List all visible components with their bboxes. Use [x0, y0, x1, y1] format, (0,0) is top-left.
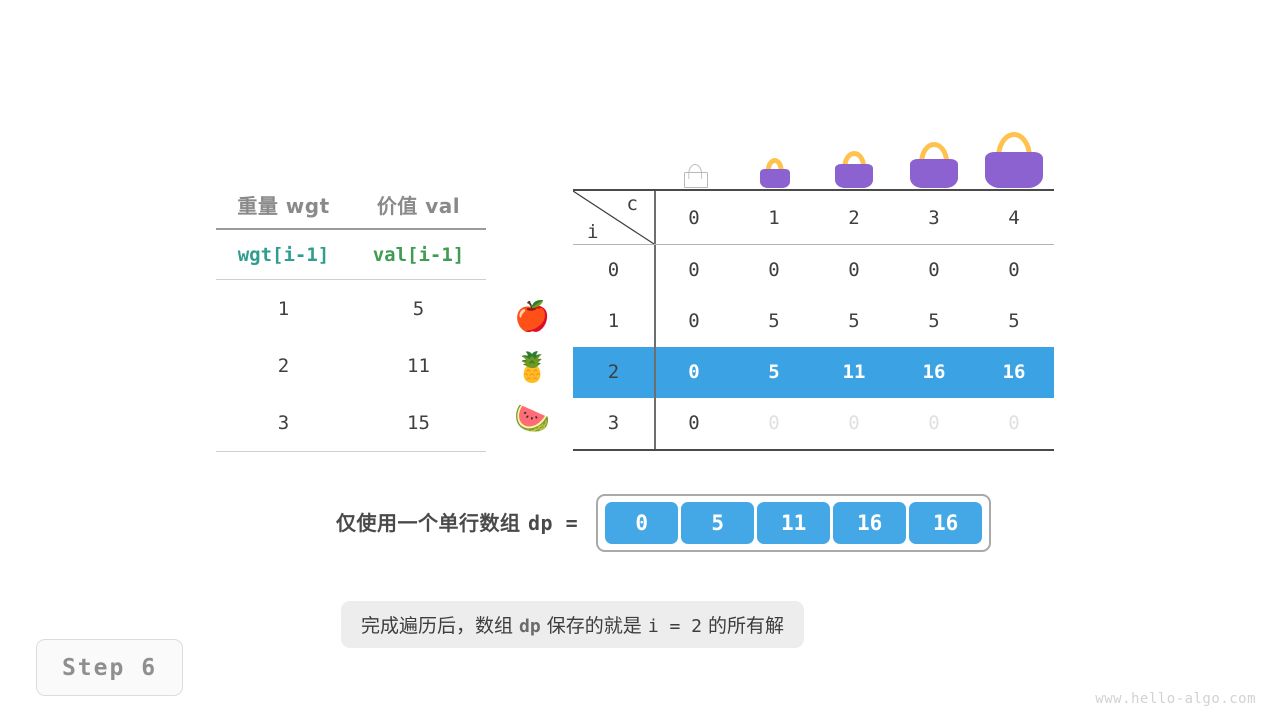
dp-col-header: 2 — [814, 207, 894, 229]
table-row: 3 15 — [216, 394, 486, 451]
items-header-weight: 重量 wgt — [216, 190, 351, 228]
table-row: 3 0 0 0 0 0 — [573, 398, 1054, 449]
diagonal-divider-icon — [573, 191, 654, 244]
caption-expression: i = 2 — [648, 616, 702, 637]
dp-cell: 5 — [974, 296, 1054, 347]
dp-table-header-row: c i 0 1 2 3 4 — [573, 191, 1054, 244]
dp-cell: 11 — [814, 347, 894, 398]
step-badge: Step 6 — [36, 639, 183, 696]
dp-col-header: 1 — [734, 207, 814, 229]
bag-icon — [735, 118, 815, 188]
table-row-highlighted: 2 0 5 11 16 16 — [573, 347, 1054, 398]
dp-cell: 0 — [894, 245, 974, 296]
dp-corner-row-label: i — [587, 221, 598, 243]
items-table-rule-bottom — [216, 451, 486, 452]
items-subheader-val: val[i-1] — [351, 230, 486, 279]
dp-array-cell: 16 — [909, 502, 982, 544]
dp-table-bottom-rule — [573, 449, 1054, 451]
watermark: www.hello-algo.com — [1095, 691, 1256, 707]
empty-bag-icon — [655, 118, 735, 188]
dp-table-vertical-divider — [654, 245, 656, 449]
dp-cell: 5 — [734, 296, 814, 347]
pineapple-icon: 🍍 — [512, 353, 552, 382]
items-table-header-row: 重量 wgt 价值 val — [216, 190, 486, 228]
dp-array-cell: 16 — [833, 502, 906, 544]
dp-cell: 5 — [734, 347, 814, 398]
items-cell-wgt: 3 — [216, 394, 351, 451]
items-cell-val: 11 — [351, 337, 486, 394]
dp-cell: 5 — [814, 296, 894, 347]
items-cell-wgt: 2 — [216, 337, 351, 394]
dp-row-index: 0 — [573, 245, 654, 296]
items-table: 重量 wgt 价值 val wgt[i-1] val[i-1] 1 5 2 11… — [216, 190, 486, 452]
watermelon-icon: 🍉 — [512, 404, 552, 433]
dp-table-body: 0 0 0 0 0 0 1 0 5 5 5 5 2 0 5 — [573, 245, 1054, 449]
caption-part3: 的所有解 — [702, 615, 784, 637]
dp-array-cell: 11 — [757, 502, 830, 544]
bag-icon — [974, 118, 1054, 188]
items-header-value: 价值 val — [351, 190, 486, 228]
dp-corner-cell: c i — [573, 191, 654, 244]
dp-array-cell: 5 — [681, 502, 754, 544]
bag-icon — [815, 118, 895, 188]
dp-array-label: 仅使用一个单行数组 dp = — [336, 496, 578, 550]
dp-array-box: 0 5 11 16 16 — [596, 494, 991, 552]
dp-cell: 0 — [974, 245, 1054, 296]
items-subheader-wgt: wgt[i-1] — [216, 230, 351, 279]
items-cell-wgt: 1 — [216, 280, 351, 337]
items-cell-val: 5 — [351, 280, 486, 337]
table-row: 1 0 5 5 5 5 — [573, 296, 1054, 347]
bag-icon — [894, 118, 974, 188]
dp-cell: 0 — [654, 296, 734, 347]
caption-part1: 完成遍历后，数组 — [361, 615, 519, 637]
dp-row-index: 1 — [573, 296, 654, 347]
dp-array-label-mono: dp = — [528, 511, 578, 535]
dp-cell: 0 — [654, 398, 734, 449]
dp-cell: 5 — [894, 296, 974, 347]
dp-cell: 16 — [894, 347, 974, 398]
dp-cell-pending: 0 — [974, 398, 1054, 449]
items-table-subheader-row: wgt[i-1] val[i-1] — [216, 230, 486, 279]
dp-cell: 0 — [734, 245, 814, 296]
items-cell-val: 15 — [351, 394, 486, 451]
table-row: 2 11 — [216, 337, 486, 394]
dp-row-index: 2 — [573, 347, 654, 398]
dp-row-index: 3 — [573, 398, 654, 449]
dp-col-header: 3 — [894, 207, 974, 229]
dp-cell-pending: 0 — [734, 398, 814, 449]
dp-table-vertical-divider — [654, 191, 656, 244]
dp-cell-pending: 0 — [814, 398, 894, 449]
dp-col-header: 4 — [974, 207, 1054, 229]
dp-cell: 16 — [974, 347, 1054, 398]
dp-array-cell: 0 — [605, 502, 678, 544]
dp-table: c i 0 1 2 3 4 0 0 0 0 0 0 1 0 — [573, 189, 1054, 451]
dp-cell: 0 — [654, 245, 734, 296]
caption-banner: 完成遍历后，数组 dp 保存的就是 i = 2 的所有解 — [341, 601, 804, 648]
caption-part2: 保存的就是 — [541, 615, 648, 637]
caption-dp: dp — [519, 616, 541, 637]
dp-cell-pending: 0 — [894, 398, 974, 449]
dp-col-header: 0 — [654, 207, 734, 229]
apple-icon: 🍎 — [512, 302, 552, 331]
table-row: 0 0 0 0 0 0 — [573, 245, 1054, 296]
dp-array-section: 仅使用一个单行数组 dp = 0 5 11 16 16 — [336, 494, 991, 552]
dp-array-label-text: 仅使用一个单行数组 — [336, 511, 528, 535]
bag-capacity-icons — [655, 118, 1054, 188]
dp-corner-col-label: c — [627, 193, 638, 215]
dp-cell: 0 — [814, 245, 894, 296]
table-row: 1 5 — [216, 280, 486, 337]
dp-cell: 0 — [654, 347, 734, 398]
